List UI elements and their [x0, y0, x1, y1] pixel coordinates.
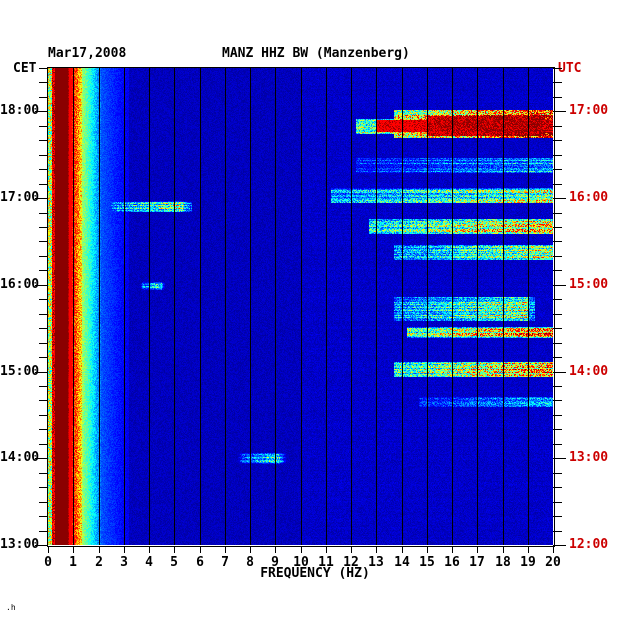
- y-axis-tick-left: [39, 169, 48, 170]
- x-axis-title: FREQUENCY (HZ): [0, 566, 630, 581]
- x-axis-tick: [301, 546, 302, 553]
- y-axis-tick-right: [553, 111, 566, 112]
- y-axis-label-cet: 13:00: [0, 537, 32, 552]
- y-axis-tick-left: [39, 314, 48, 315]
- y-axis-tick-right: [553, 198, 566, 199]
- y-axis-tick-right: [553, 155, 562, 156]
- x-axis-tick: [174, 546, 175, 553]
- x-axis-tick: [73, 546, 74, 553]
- y-axis-tick-right: [553, 126, 562, 127]
- x-axis-tick: [200, 546, 201, 553]
- x-axis-tick: [149, 546, 150, 553]
- y-axis-tick-right: [553, 400, 562, 401]
- x-axis-tick: [477, 546, 478, 553]
- y-axis-tick-right: [553, 458, 566, 459]
- y-axis-label-utc: 12:00: [569, 537, 608, 552]
- y-axis-tick-left: [39, 357, 48, 358]
- y-axis-tick-right: [553, 487, 562, 488]
- y-axis-tick-left: [39, 155, 48, 156]
- record-date: Mar17,2008: [48, 46, 126, 61]
- y-axis-tick-left: [39, 97, 48, 98]
- y-axis-tick-right: [553, 299, 562, 300]
- x-axis-tick: [99, 546, 100, 553]
- y-axis-tick-right: [553, 343, 562, 344]
- x-axis-tick: [275, 546, 276, 553]
- x-axis-tick: [351, 546, 352, 553]
- y-axis-tick-left: [39, 299, 48, 300]
- x-axis-tick: [326, 546, 327, 553]
- y-axis-tick-right: [553, 184, 562, 185]
- y-axis-tick-right: [553, 502, 562, 503]
- y-axis-tick-left: [39, 502, 48, 503]
- y-axis-tick-left: [39, 516, 48, 517]
- x-axis-tick: [225, 546, 226, 553]
- y-axis-tick-right: [553, 328, 562, 329]
- y-axis-tick-left: [39, 213, 48, 214]
- y-axis-tick-left: [39, 328, 48, 329]
- y-axis-tick-right: [553, 516, 562, 517]
- y-axis-tick-right: [553, 415, 562, 416]
- y-axis-tick-left: [39, 126, 48, 127]
- y-axis-tick-right: [553, 473, 562, 474]
- y-axis-label-cet: 17:00: [0, 190, 32, 205]
- x-axis-tick: [528, 546, 529, 553]
- y-axis-tick-right: [553, 545, 566, 546]
- y-axis-label-utc: 14:00: [569, 364, 608, 379]
- y-axis-tick-right: [553, 444, 562, 445]
- y-axis-tick-left: [39, 473, 48, 474]
- y-axis-tick-right: [553, 256, 562, 257]
- spectrogram-canvas[interactable]: [48, 68, 553, 545]
- y-axis-tick-right: [553, 227, 562, 228]
- left-timezone-label: CET: [13, 61, 36, 76]
- y-axis-tick-right: [553, 270, 562, 271]
- y-axis-label-cet: 15:00: [0, 364, 32, 379]
- y-axis-tick-right: [553, 82, 562, 83]
- y-axis-tick-right: [553, 213, 562, 214]
- y-axis-label-cet: 18:00: [0, 103, 32, 118]
- y-axis-tick-left: [39, 531, 48, 532]
- y-axis-label-utc: 15:00: [569, 277, 608, 292]
- y-axis-tick-right: [553, 97, 562, 98]
- y-axis-tick-right: [553, 285, 566, 286]
- x-axis-tick: [376, 546, 377, 553]
- y-axis-tick-right: [553, 314, 562, 315]
- x-axis-tick: [452, 546, 453, 553]
- x-axis-tick: [503, 546, 504, 553]
- y-axis-tick-left: [39, 82, 48, 83]
- y-axis-tick-left: [39, 444, 48, 445]
- x-axis-tick: [124, 546, 125, 553]
- y-axis-tick-right: [553, 357, 562, 358]
- y-axis-label-utc: 17:00: [569, 103, 608, 118]
- y-axis-tick-left: [39, 140, 48, 141]
- y-axis-tick-left: [39, 270, 48, 271]
- y-axis-tick-left: [39, 415, 48, 416]
- y-axis-tick-left: [39, 227, 48, 228]
- corner-artifact: .h: [6, 603, 16, 612]
- y-axis-tick-right: [553, 241, 562, 242]
- y-axis-tick-right: [553, 140, 562, 141]
- y-axis-tick-left: [39, 184, 48, 185]
- x-axis-tick: [48, 546, 49, 553]
- spectrogram-page: Mar17,2008 MANZ HHZ BW (Manzenberg) CET …: [0, 0, 630, 624]
- y-axis-label-cet: 14:00: [0, 450, 32, 465]
- y-axis-tick-left: [39, 487, 48, 488]
- y-axis-tick-right: [553, 169, 562, 170]
- y-axis-tick-left: [39, 241, 48, 242]
- y-axis-tick-right: [553, 386, 562, 387]
- y-axis-tick-left: [39, 256, 48, 257]
- y-axis-tick-left: [39, 386, 48, 387]
- x-axis-tick: [402, 546, 403, 553]
- y-axis-tick-right: [553, 429, 562, 430]
- y-axis-tick-right: [553, 68, 562, 69]
- x-axis-tick: [427, 546, 428, 553]
- y-axis-tick-left: [39, 429, 48, 430]
- station-title: MANZ HHZ BW (Manzenberg): [222, 46, 410, 61]
- y-axis-tick-right: [553, 372, 566, 373]
- x-axis-tick: [250, 546, 251, 553]
- x-axis-tick: [553, 546, 554, 553]
- y-axis-tick-right: [553, 531, 562, 532]
- y-axis-label-utc: 16:00: [569, 190, 608, 205]
- y-axis-label-cet: 16:00: [0, 277, 32, 292]
- y-axis-tick-left: [39, 400, 48, 401]
- y-axis-tick-left: [39, 68, 48, 69]
- spectrogram-plot[interactable]: [48, 68, 553, 545]
- y-axis-tick-left: [39, 343, 48, 344]
- y-axis-label-utc: 13:00: [569, 450, 608, 465]
